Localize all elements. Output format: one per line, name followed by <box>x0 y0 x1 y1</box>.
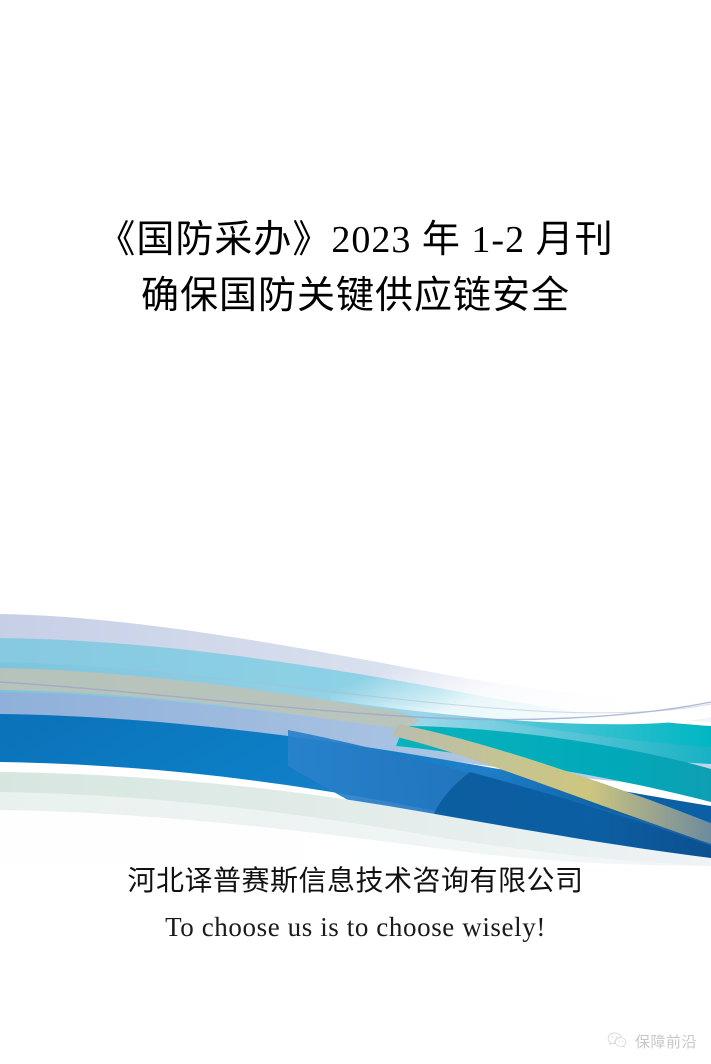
watermark: 保障前沿 <box>606 1030 697 1052</box>
title-line-issue: 《国防采办》2023 年 1-2 月刊 <box>0 212 711 268</box>
title-line-subject: 确保国防关键供应链安全 <box>0 268 711 324</box>
footer-block: 河北译普赛斯信息技术咨询有限公司 To choose us is to choo… <box>0 862 711 946</box>
company-name: 河北译普赛斯信息技术咨询有限公司 <box>0 862 711 902</box>
watermark-label: 保障前沿 <box>635 1031 697 1052</box>
wechat-logo-icon <box>606 1030 628 1052</box>
poster-page: 《国防采办》2023 年 1-2 月刊 确保国防关键供应链安全 <box>0 0 711 1064</box>
company-tagline: To choose us is to choose wisely! <box>0 908 711 946</box>
abstract-wave-banner <box>0 596 711 866</box>
page-title: 《国防采办》2023 年 1-2 月刊 确保国防关键供应链安全 <box>0 212 711 324</box>
